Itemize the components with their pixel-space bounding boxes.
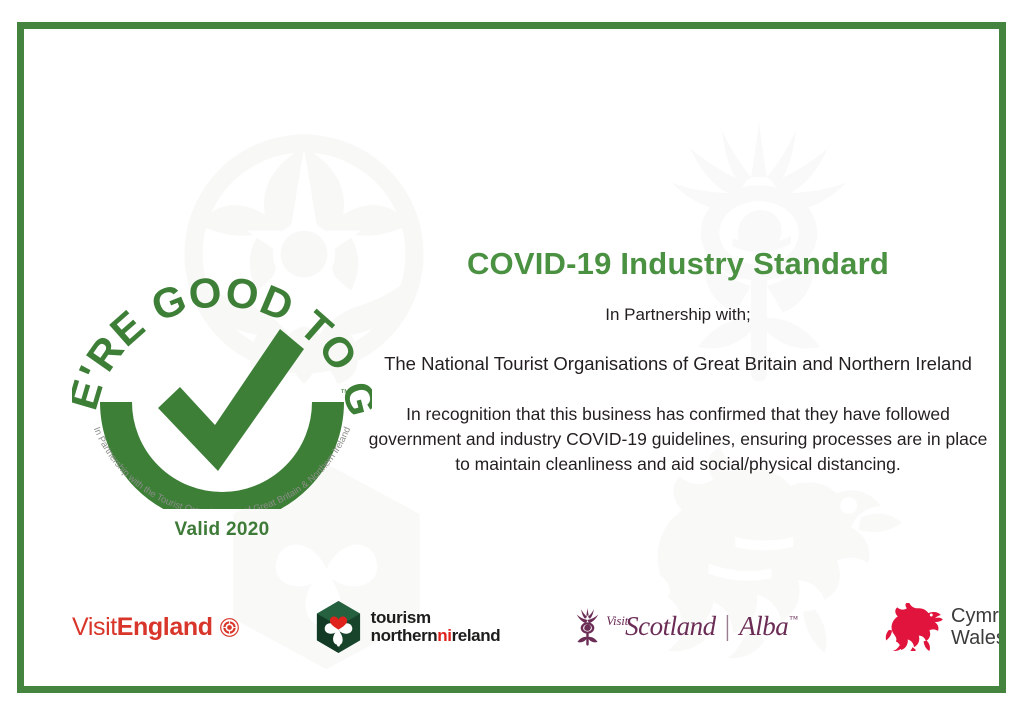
- tourismni-line1: tourism: [371, 609, 501, 627]
- valid-year-label: Valid 2020: [72, 519, 372, 541]
- visitengland-word-england: England: [117, 613, 213, 641]
- thistle-icon: [575, 608, 600, 646]
- rose-target-icon: [220, 618, 239, 637]
- visitscotland-trademark-icon: ™: [789, 614, 798, 624]
- partner-logo-visitscotland: Visit Scotland | Alba ™: [575, 608, 797, 646]
- organisations-line: The National Tourist Organisations of Gr…: [354, 353, 1002, 375]
- badge-trademark-icon: ™: [340, 388, 350, 399]
- cymruwales-line1: Cymru: [951, 605, 1006, 627]
- welsh-dragon-icon: [885, 603, 943, 651]
- cymruwales-wordmark: Cymru Wales: [951, 605, 1006, 650]
- certificate-frame: WE'RE GOOD TO GO ™ In Partnership with t…: [17, 22, 1006, 693]
- visitscotland-word-scotland: Scotland: [625, 611, 716, 642]
- were-good-to-go-logo: WE'RE GOOD TO GO ™ In Partnership with t…: [72, 224, 372, 509]
- hexagon-shamrock-icon: [315, 600, 362, 654]
- tourismni-word-ni: ni: [437, 626, 451, 645]
- visitscotland-wordmark: Visit Scotland | Alba ™: [606, 611, 797, 643]
- partner-logo-row: VisitEngland: [24, 592, 999, 662]
- check-icon: [158, 329, 304, 471]
- badge-arc-text: WE'RE GOOD TO GO: [72, 224, 372, 421]
- partner-logo-cymruwales: Cymru Wales: [885, 603, 1006, 651]
- tourismni-word-reland: reland: [452, 626, 501, 645]
- recognition-text: In recognition that this business has co…: [354, 402, 1002, 478]
- good-to-go-badge: WE'RE GOOD TO GO ™ In Partnership with t…: [72, 224, 372, 541]
- partner-logo-tourismni: tourism northernnireland: [315, 600, 501, 654]
- tourismni-wordmark: tourism northernnireland: [371, 609, 501, 645]
- visitscotland-divider: |: [725, 611, 731, 643]
- partnership-line: In Partnership with;: [354, 305, 1002, 325]
- visitscotland-word-visit: Visit: [606, 613, 628, 629]
- visitengland-word-visit: Visit: [72, 613, 117, 641]
- tourismni-line2: northernnireland: [371, 627, 501, 645]
- visitengland-wordmark: VisitEngland: [72, 613, 213, 642]
- certificate-text-block: COVID-19 Industry Standard In Partnershi…: [354, 247, 1002, 478]
- partner-logo-visitengland: VisitEngland: [72, 613, 239, 642]
- page-title: COVID-19 Industry Standard: [354, 247, 1002, 281]
- tourismni-word-northern: northern: [371, 626, 438, 645]
- visitscotland-word-alba: Alba: [739, 611, 788, 642]
- cymruwales-line2: Wales: [951, 627, 1006, 649]
